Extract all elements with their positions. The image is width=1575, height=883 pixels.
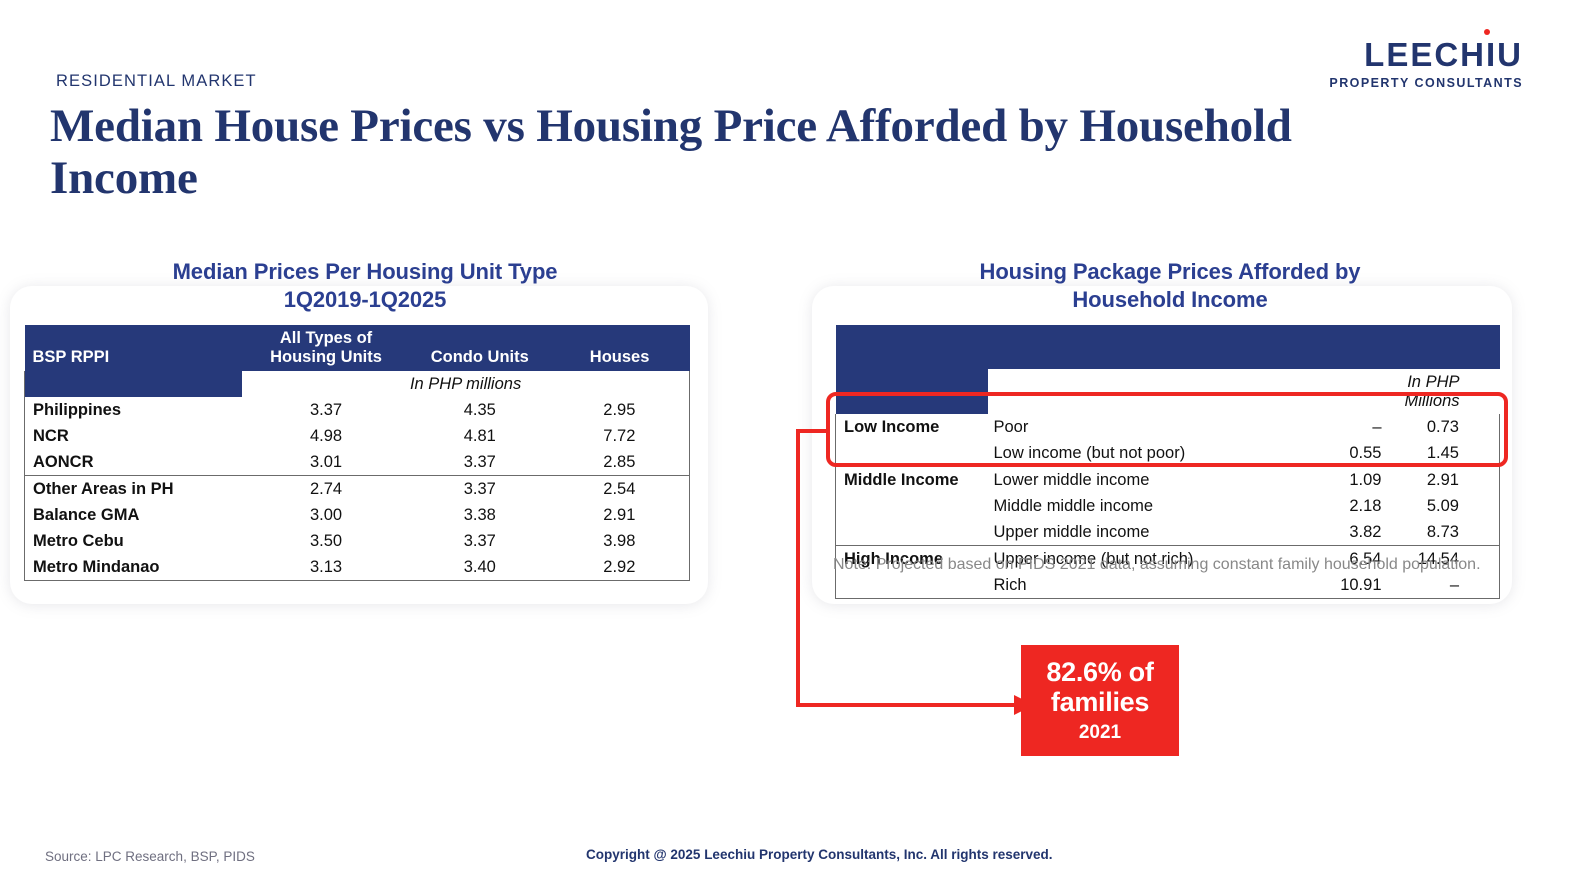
cell-houses: 2.91 (550, 502, 690, 528)
cell-high: 5.09 (1396, 493, 1500, 519)
cell-condo: 3.40 (410, 554, 550, 581)
cell-condo: 3.37 (410, 449, 550, 476)
cell-all-types: 3.00 (242, 502, 410, 528)
cell-houses: 3.98 (550, 528, 690, 554)
col-header-bsp-rppi: BSP RPPI (25, 325, 243, 371)
cell-low: 10.91 (1304, 572, 1396, 599)
table-row: Metro Mindanao 3.13 3.40 2.92 (25, 554, 690, 581)
median-prices-table-body: Philippines 3.37 4.35 2.95 NCR 4.98 4.81… (25, 397, 690, 581)
cell-low: 3.82 (1304, 519, 1396, 546)
cell-low: 2.18 (1304, 493, 1396, 519)
cell-all-types: 2.74 (242, 476, 410, 503)
median-prices-table: BSP RPPI All Types of Housing Units Cond… (24, 325, 690, 581)
row-label: NCR (25, 423, 243, 449)
row-label: Metro Cebu (25, 528, 243, 554)
row-label: Other Areas in PH (25, 476, 243, 503)
statistic-callout: 82.6% of families 2021 (1021, 645, 1179, 756)
row-label: Balance GMA (25, 502, 243, 528)
slide-root: RESIDENTIAL MARKET Median House Prices v… (0, 0, 1575, 883)
cell-low: 1.09 (1304, 467, 1396, 494)
units-label-left: In PHP millions (242, 371, 689, 397)
table-header-row: BSP RPPI All Types of Housing Units Cond… (25, 325, 690, 371)
right-panel-title-line2: Household Income (830, 286, 1510, 314)
col-header-all-types-line1: All Types of (248, 329, 404, 348)
cell-high: 2.91 (1396, 467, 1500, 494)
logo-text: LEECHIU (1364, 36, 1523, 73)
cell-houses: 2.54 (550, 476, 690, 503)
logo-dot-icon (1484, 29, 1490, 35)
right-panel-title: Housing Package Prices Afforded by House… (830, 258, 1510, 314)
callout-line1: 82.6% of (1046, 657, 1153, 687)
cell-condo: 3.37 (410, 528, 550, 554)
units-label-right: In PHP Millions (1396, 369, 1500, 414)
col-header-all-types-line2: Housing Units (248, 348, 404, 367)
table-row: Balance GMA 3.00 3.38 2.91 (25, 502, 690, 528)
table-header-row (836, 325, 1500, 369)
cell-high: – (1396, 572, 1500, 599)
page-title: Median House Prices vs Housing Price Aff… (50, 100, 1380, 204)
cell-condo: 4.81 (410, 423, 550, 449)
right-panel-title-line1: Housing Package Prices Afforded by (830, 258, 1510, 286)
left-panel-title: Median Prices Per Housing Unit Type 1Q20… (20, 258, 710, 314)
table-row: AONCR 3.01 3.37 2.85 (25, 449, 690, 476)
left-panel-title-line2: 1Q2019-1Q2025 (20, 286, 710, 314)
table-row: Philippines 3.37 4.35 2.95 (25, 397, 690, 423)
median-prices-table-wrap: BSP RPPI All Types of Housing Units Cond… (24, 325, 690, 581)
cell-low: – (1304, 414, 1396, 440)
cell-houses: 2.92 (550, 554, 690, 581)
eyebrow-label: RESIDENTIAL MARKET (56, 72, 257, 91)
cell-high: 0.73 (1396, 414, 1500, 440)
cell-houses: 2.85 (550, 449, 690, 476)
logo-wordmark: LEECHIU (1329, 38, 1523, 71)
cell-all-types: 3.13 (242, 554, 410, 581)
cell-houses: 2.95 (550, 397, 690, 423)
cell-low: 0.55 (1304, 440, 1396, 467)
cell-all-types: 3.37 (242, 397, 410, 423)
callout-line2: families (1051, 687, 1149, 717)
col-header-all-types: All Types of Housing Units (242, 325, 410, 371)
units-row: In PHP millions (25, 371, 690, 397)
connector-path (798, 431, 1014, 705)
cell-high: 1.45 (1396, 440, 1500, 467)
table-row: Other Areas in PH 2.74 3.37 2.54 (25, 476, 690, 503)
source-note: Source: LPC Research, BSP, PIDS (45, 849, 255, 864)
cell-all-types: 3.01 (242, 449, 410, 476)
table-row: Metro Cebu 3.50 3.37 3.98 (25, 528, 690, 554)
callout-year: 2021 (1079, 722, 1121, 744)
brand-logo: LEECHIU PROPERTY CONSULTANTS (1329, 38, 1523, 90)
logo-subtitle: PROPERTY CONSULTANTS (1329, 76, 1523, 90)
row-label: Philippines (25, 397, 243, 423)
table-row: NCR 4.98 4.81 7.72 (25, 423, 690, 449)
copyright-note: Copyright @ 2025 Leechiu Property Consul… (586, 847, 1053, 862)
row-label: Metro Mindanao (25, 554, 243, 581)
left-panel-title-line1: Median Prices Per Housing Unit Type (20, 258, 710, 286)
cell-all-types: 3.50 (242, 528, 410, 554)
cell-condo: 3.38 (410, 502, 550, 528)
cell-houses: 7.72 (550, 423, 690, 449)
cell-all-types: 4.98 (242, 423, 410, 449)
col-header-condo-units: Condo Units (410, 325, 550, 371)
cell-condo: 3.37 (410, 476, 550, 503)
col-header-houses: Houses (550, 325, 690, 371)
cell-high: 8.73 (1396, 519, 1500, 546)
row-label: AONCR (25, 449, 243, 476)
cell-condo: 4.35 (410, 397, 550, 423)
